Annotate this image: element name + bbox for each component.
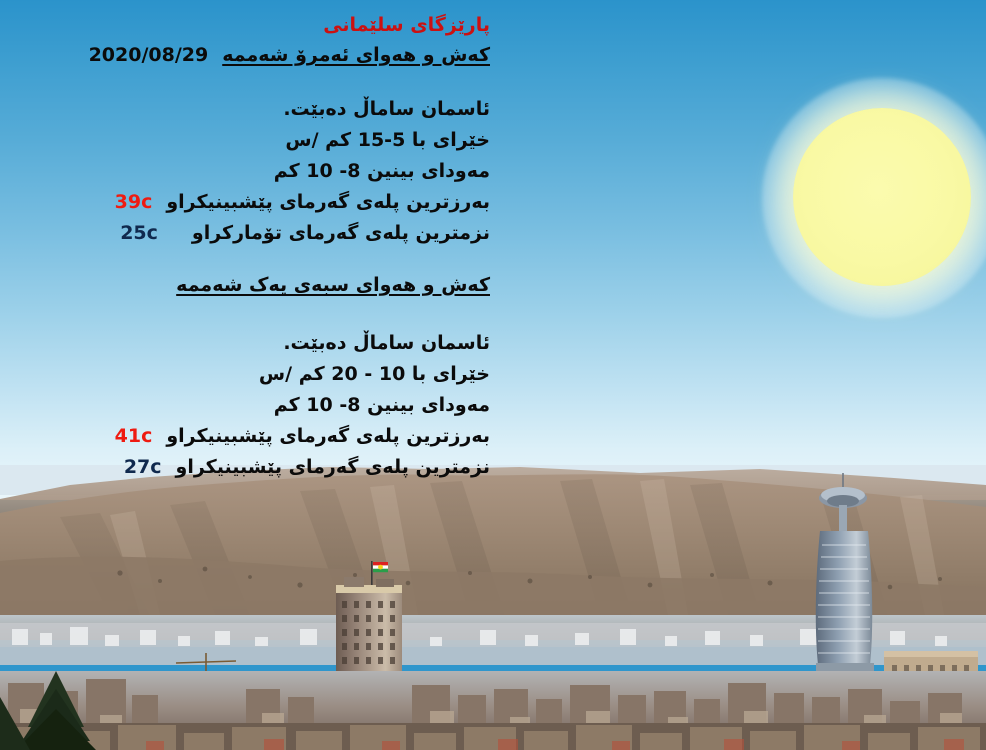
- tomorrow-max-value: 41c: [115, 425, 153, 447]
- tomorrow-min-value: 27c: [124, 456, 162, 478]
- today-min-label: نزمترین پلەی گەرمای تۆمارکراو: [192, 222, 490, 244]
- tomorrow-wind: خێرای با 10 - 20 کم /س: [259, 363, 490, 385]
- tomorrow-heading: کەش و هەوای سبەی یەک شەممە: [176, 274, 490, 296]
- tomorrow-visibility: مەودای بینین 8- 10 کم: [274, 394, 490, 416]
- province-title: پارێزگای سلێمانی: [323, 14, 490, 36]
- today-visibility: مەودای بینین 8- 10 کم: [274, 160, 490, 182]
- forecast-text-overlay: پارێزگای سلێمانی کەش و هەوای ئەمرۆ شەممە…: [0, 0, 986, 500]
- today-max-value: 39c: [115, 191, 153, 213]
- today-heading-label: کەش و هەوای ئەمرۆ شەممە: [222, 44, 490, 66]
- today-date: 2020/08/29: [89, 44, 209, 66]
- tomorrow-max-label: بەرزترین پلەی گەرمای پێشبینیکراو: [166, 425, 490, 447]
- today-wind: خێرای با 5-15 کم /س: [285, 129, 490, 151]
- tomorrow-sky-condition: ئاسمان ساماڵ دەبێت.: [283, 332, 490, 354]
- sulaimani-cityscape: [0, 465, 986, 750]
- tomorrow-min-label: نزمترین پلەی گەرمای پێشبینیکراو: [176, 456, 490, 478]
- today-max-temp: بەرزترین پلەی گەرمای پێشبینیکراو39c: [115, 191, 490, 213]
- today-sky-condition: ئاسمان ساماڵ دەبێت.: [283, 98, 490, 120]
- today-min-temp: نزمترین پلەی گەرمای تۆمارکراو25c: [120, 222, 490, 244]
- today-max-label: بەرزترین پلەی گەرمای پێشبینیکراو: [166, 191, 490, 213]
- today-min-value: 25c: [120, 222, 158, 244]
- tomorrow-min-temp: نزمترین پلەی گەرمای پێشبینیکراو27c: [124, 456, 490, 478]
- weather-forecast-image: پارێزگای سلێمانی کەش و هەوای ئەمرۆ شەممە…: [0, 0, 986, 750]
- today-heading: کەش و هەوای ئەمرۆ شەممە2020/08/29: [89, 44, 490, 66]
- tomorrow-max-temp: بەرزترین پلەی گەرمای پێشبینیکراو41c: [115, 425, 490, 447]
